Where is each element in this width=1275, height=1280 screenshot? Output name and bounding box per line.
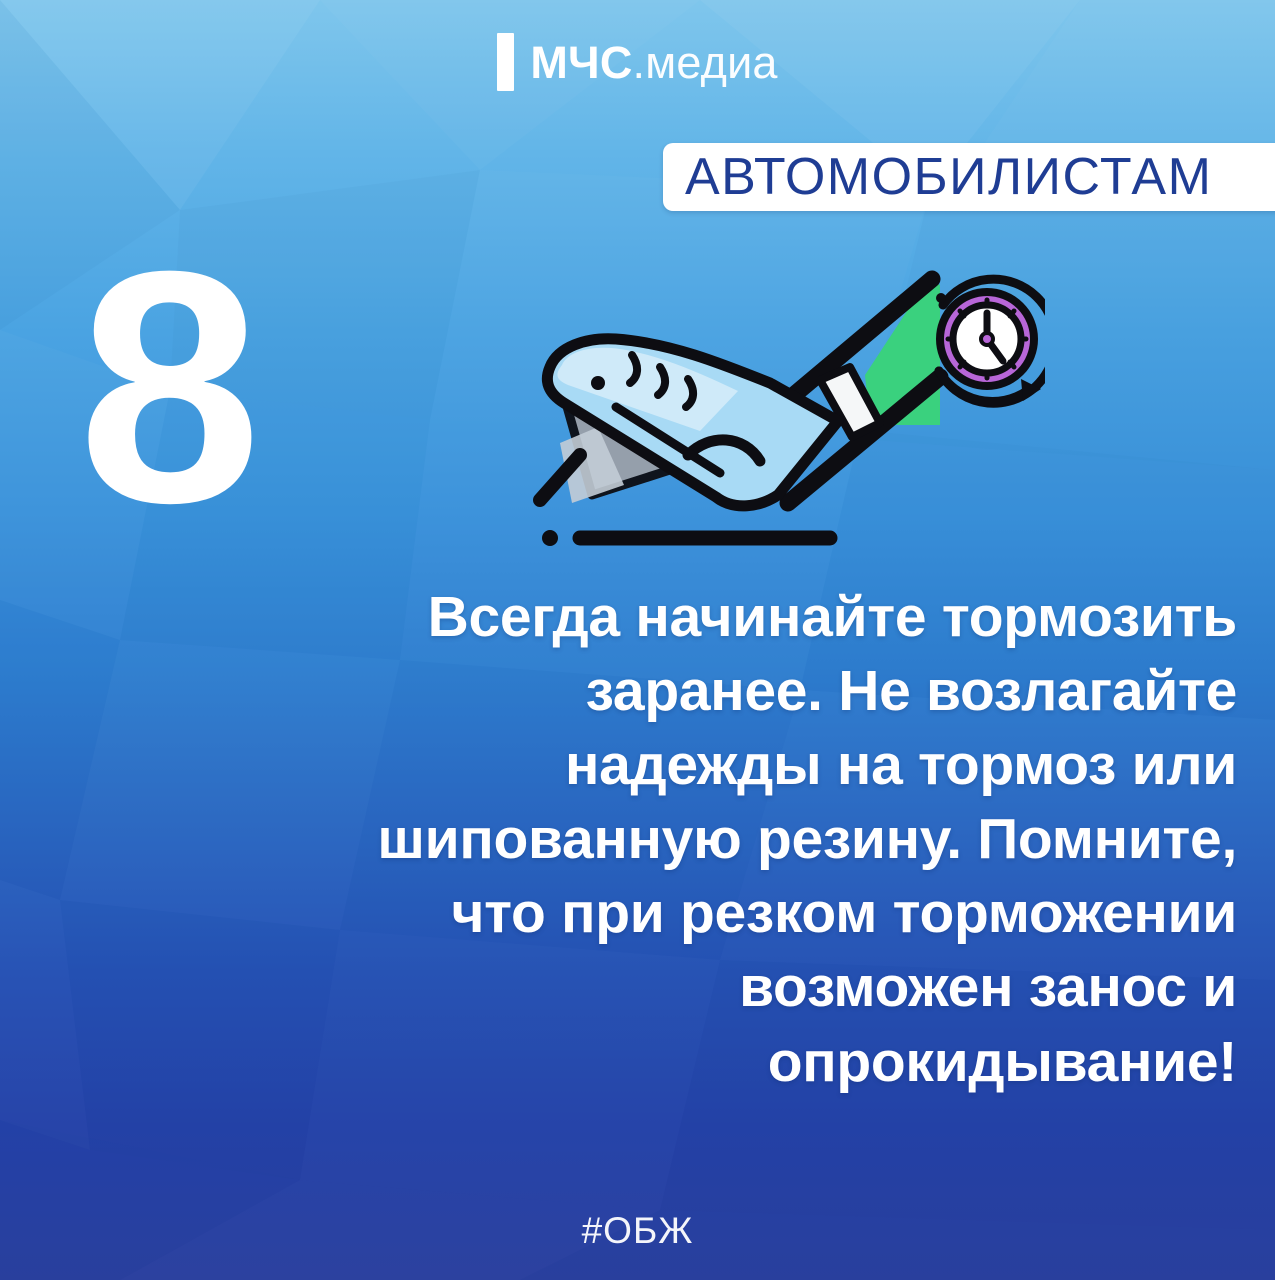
logo-wordmark-light: .медиа [633,37,778,88]
poster-canvas: МЧС.медиа АВТОМОБИЛИСТАМ 8 [0,0,1275,1280]
logo-wordmark: МЧС.медиа [530,40,777,85]
message-line: возможен занос и [120,950,1237,1024]
logo-bar-icon [497,33,514,91]
message-line: заранее. Не возлагайте [120,654,1237,728]
floor-line [542,530,830,546]
message-block: Всегда начинайте тормозить заранее. Не в… [120,580,1237,1099]
clock-face [948,300,1026,378]
message-line: шипованную резину. Помните, [120,802,1237,876]
tip-number: 8 [78,252,256,523]
brand-logo: МЧС.медиа [0,33,1275,91]
shoe-eyelet-dot [591,376,605,390]
brake-pedal-illustration [520,255,1045,555]
message-line: что при резком торможении [120,876,1237,950]
message-line: Всегда начинайте тормозить [120,580,1237,654]
clock-rotate-icon [936,279,1045,403]
hashtag-label: #ОБЖ [0,1210,1275,1252]
category-banner-label: АВТОМОБИЛИСТАМ [663,151,1212,203]
category-banner: АВТОМОБИЛИСТАМ [663,143,1275,211]
message-line: опрокидывание! [120,1025,1237,1099]
logo-wordmark-strong: МЧС [530,37,632,88]
message-line: надежды на тормоз или [120,728,1237,802]
